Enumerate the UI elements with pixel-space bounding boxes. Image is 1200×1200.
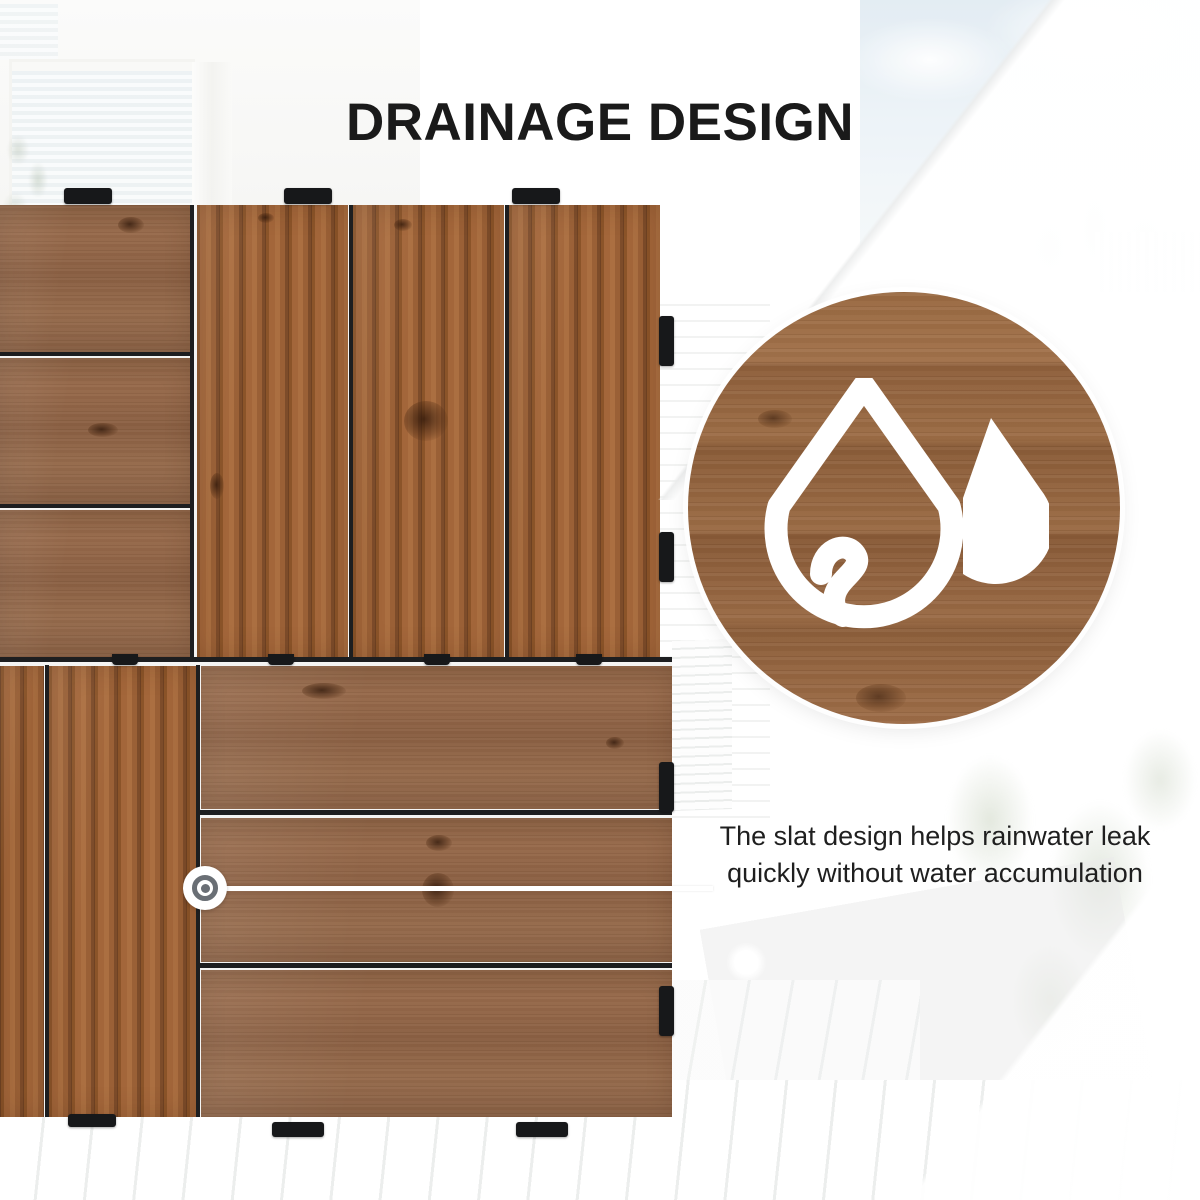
callout-leader-line: [205, 886, 713, 891]
tile-sheen: [0, 665, 44, 1117]
drainage-slot: [45, 665, 49, 1117]
drainage-slot: [200, 810, 672, 815]
tile-vertical-slat: [0, 665, 44, 1117]
connector-clip: [284, 188, 332, 204]
drainage-slot: [190, 205, 194, 657]
tile-sheen: [0, 509, 190, 657]
marker-core: [201, 884, 210, 893]
feature-caption: The slat design helps rainwater leak qui…: [700, 818, 1170, 893]
wood-knot: [426, 835, 452, 851]
tile-sheen: [200, 969, 672, 1117]
upper-window: [0, 4, 58, 60]
tile-vertical-slat: [352, 205, 504, 657]
interlock-tab: [268, 654, 294, 665]
connector-clip: [659, 986, 674, 1036]
tile-sheen: [352, 205, 504, 657]
railing-background: [1095, 232, 1200, 292]
interlock-tab: [576, 654, 602, 665]
louver-vent: [672, 639, 732, 811]
tile-sheen: [200, 665, 672, 813]
connector-clip: [272, 1122, 324, 1137]
wood-knot: [856, 684, 906, 712]
tile-vertical-slat: [196, 205, 348, 657]
wood-knot: [258, 213, 274, 223]
wood-knot: [302, 683, 346, 699]
drainage-slot: [0, 657, 672, 662]
interlock-tab: [112, 654, 138, 665]
wood-knot: [210, 473, 224, 499]
page-title: DRAINAGE DESIGN: [0, 92, 1200, 153]
wood-knot: [394, 219, 412, 231]
connector-clip: [516, 1122, 568, 1137]
tile-horizontal: [0, 357, 190, 505]
tile-sheen: [200, 817, 672, 965]
interlock-tab: [424, 654, 450, 665]
connector-clip: [659, 532, 674, 582]
tile-horizontal: [0, 509, 190, 657]
tile-vertical-slat: [508, 205, 660, 657]
drainage-slot: [0, 504, 190, 508]
tile-horizontal: [200, 969, 672, 1117]
tile-vertical-slat: [48, 665, 196, 1117]
connector-clip: [68, 1114, 116, 1127]
tile-sheen: [508, 205, 660, 657]
callout-marker: [183, 866, 227, 910]
drainage-slot: [505, 205, 509, 657]
drainage-slot: [200, 963, 672, 968]
drainage-slot: [349, 205, 353, 657]
tile-sheen: [0, 205, 190, 353]
wood-knot: [118, 217, 144, 233]
wood-knot: [88, 423, 118, 437]
product-infographic: DRAINAGE DESIGN The slat design helps ra…: [0, 0, 1200, 1200]
tile-sheen: [196, 205, 348, 657]
tile-sheen: [48, 665, 196, 1117]
tile-sheen: [0, 357, 190, 505]
connector-clip: [659, 762, 674, 812]
connector-clip: [64, 188, 112, 204]
wood-knot: [404, 401, 448, 441]
tile-horizontal: [200, 665, 672, 813]
drainage-callout-circle: [688, 292, 1120, 724]
tile-horizontal: [200, 817, 672, 965]
marker-ring: [192, 875, 218, 901]
tile-horizontal: [0, 205, 190, 353]
water-droplet-icon: [759, 378, 1049, 638]
drainage-slot: [0, 352, 190, 356]
connector-clip: [659, 316, 674, 366]
wood-knot: [606, 737, 624, 749]
connector-clip: [512, 188, 560, 204]
